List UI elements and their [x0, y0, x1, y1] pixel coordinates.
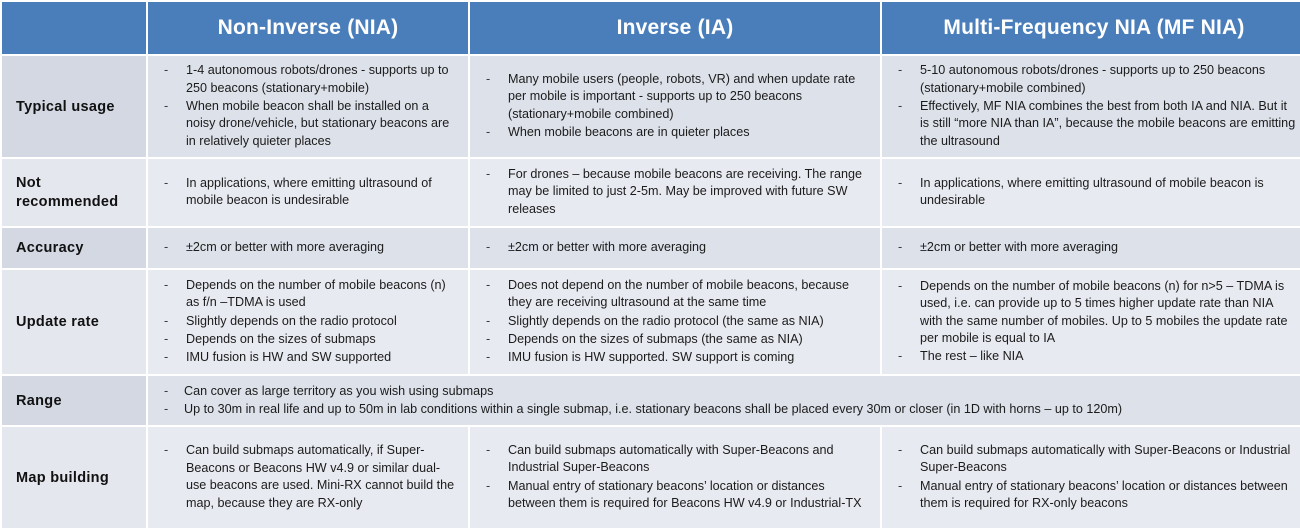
column-header-inverse: Inverse (IA)	[470, 2, 880, 54]
header-corner-cell	[2, 2, 146, 54]
table-row: Typical usage1-4 autonomous robots/drone…	[2, 56, 1300, 157]
bullet-item: 5-10 autonomous robots/drones - supports…	[890, 62, 1296, 97]
bullet-list: ±2cm or better with more averaging	[156, 239, 458, 256]
bullet-item: When mobile beacon shall be installed on…	[156, 98, 458, 150]
cell-accuracy-mfnia: ±2cm or better with more averaging	[882, 228, 1300, 268]
bullet-list: 5-10 autonomous robots/drones - supports…	[890, 62, 1296, 150]
cell-update-nia: Depends on the number of mobile beacons …	[148, 270, 468, 375]
bullet-item: Can build submaps automatically, if Supe…	[156, 442, 458, 512]
bullet-item: 1-4 autonomous robots/drones - supports …	[156, 62, 458, 97]
cell-map-mfnia: Can build submaps automatically with Sup…	[882, 427, 1300, 528]
bullet-item: Depends on the number of mobile beacons …	[890, 278, 1296, 348]
bullet-list: Can cover as large territory as you wish…	[156, 383, 1296, 419]
column-header-multi-frequency-nia: Multi-Frequency NIA (MF NIA)	[882, 2, 1300, 54]
bullet-list: In applications, where emitting ultrasou…	[156, 175, 458, 210]
bullet-item: Slightly depends on the radio protocol (…	[478, 313, 870, 330]
bullet-item: Can build submaps automatically with Sup…	[478, 442, 870, 477]
cell-accuracy-nia: ±2cm or better with more averaging	[148, 228, 468, 268]
row-label-text: Update rate	[16, 313, 140, 331]
bullet-item: Does not depend on the number of mobile …	[478, 277, 870, 312]
table-body: Typical usage1-4 autonomous robots/drone…	[2, 56, 1300, 528]
cell-update-mfnia: Depends on the number of mobile beacons …	[882, 270, 1300, 375]
bullet-item: Slightly depends on the radio protocol	[156, 313, 458, 330]
row-label-range: Range	[2, 376, 146, 425]
bullet-item: In applications, where emitting ultrasou…	[156, 175, 458, 210]
row-label-text: Not recommended	[16, 174, 140, 210]
bullet-list: Can build submaps automatically with Sup…	[478, 442, 870, 513]
cell-typical-ia: Many mobile users (people, robots, VR) a…	[470, 56, 880, 157]
row-label-text: Accuracy	[16, 239, 140, 257]
bullet-item: IMU fusion is HW and SW supported	[156, 349, 458, 366]
bullet-item: IMU fusion is HW supported. SW support i…	[478, 349, 870, 366]
row-label-map-building: Map building	[2, 427, 146, 528]
cell-map-nia: Can build submaps automatically, if Supe…	[148, 427, 468, 528]
bullet-item: ±2cm or better with more averaging	[890, 239, 1296, 256]
cell-notrec-mfnia: In applications, where emitting ultrasou…	[882, 159, 1300, 225]
bullet-item: Depends on the number of mobile beacons …	[156, 277, 458, 312]
bullet-list: ±2cm or better with more averaging	[890, 239, 1296, 256]
table-header: Non-Inverse (NIA) Inverse (IA) Multi-Fre…	[2, 2, 1300, 54]
bullet-list: Many mobile users (people, robots, VR) a…	[478, 71, 870, 142]
cell-notrec-ia: For drones – because mobile beacons are …	[470, 159, 880, 225]
row-label-text: Range	[16, 392, 140, 410]
cell-range-all: Can cover as large territory as you wish…	[148, 376, 1300, 425]
row-label-accuracy: Accuracy	[2, 228, 146, 268]
bullet-list: ±2cm or better with more averaging	[478, 239, 870, 256]
header-row: Non-Inverse (NIA) Inverse (IA) Multi-Fre…	[2, 2, 1300, 54]
bullet-list: In applications, where emitting ultrasou…	[890, 175, 1296, 210]
bullet-list: For drones – because mobile beacons are …	[478, 166, 870, 218]
row-label-text: Map building	[16, 469, 140, 487]
bullet-list: 1-4 autonomous robots/drones - supports …	[156, 62, 458, 150]
table-row: Accuracy±2cm or better with more averagi…	[2, 228, 1300, 268]
row-label-not-recommended: Not recommended	[2, 159, 146, 225]
bullet-item: Manual entry of stationary beacons’ loca…	[478, 478, 870, 513]
bullet-item: Manual entry of stationary beacons’ loca…	[890, 478, 1296, 513]
bullet-list: Can build submaps automatically with Sup…	[890, 442, 1296, 513]
comparison-table: Non-Inverse (NIA) Inverse (IA) Multi-Fre…	[0, 0, 1300, 530]
row-label-typical-usage: Typical usage	[2, 56, 146, 157]
bullet-list: Can build submaps automatically, if Supe…	[156, 442, 458, 512]
bullet-list: Depends on the number of mobile beacons …	[890, 278, 1296, 366]
row-label-update-rate: Update rate	[2, 270, 146, 375]
cell-update-ia: Does not depend on the number of mobile …	[470, 270, 880, 375]
bullet-item: ±2cm or better with more averaging	[478, 239, 870, 256]
bullet-item: For drones – because mobile beacons are …	[478, 166, 870, 218]
bullet-item: Depends on the sizes of submaps	[156, 331, 458, 348]
bullet-item: In applications, where emitting ultrasou…	[890, 175, 1296, 210]
cell-typical-mfnia: 5-10 autonomous robots/drones - supports…	[882, 56, 1300, 157]
table-row: Map buildingCan build submaps automatica…	[2, 427, 1300, 528]
bullet-list: Depends on the number of mobile beacons …	[156, 277, 458, 367]
bullet-item: The rest – like NIA	[890, 348, 1296, 365]
row-label-text: Typical usage	[16, 98, 140, 116]
bullet-item: Depends on the sizes of submaps (the sam…	[478, 331, 870, 348]
table-row: Not recommendedIn applications, where em…	[2, 159, 1300, 225]
table-row: Update rateDepends on the number of mobi…	[2, 270, 1300, 375]
cell-typical-nia: 1-4 autonomous robots/drones - supports …	[148, 56, 468, 157]
table-row: RangeCan cover as large territory as you…	[2, 376, 1300, 425]
bullet-item: Can cover as large territory as you wish…	[156, 383, 1296, 400]
bullet-item: Can build submaps automatically with Sup…	[890, 442, 1296, 477]
bullet-item: Many mobile users (people, robots, VR) a…	[478, 71, 870, 123]
cell-accuracy-ia: ±2cm or better with more averaging	[470, 228, 880, 268]
column-header-non-inverse: Non-Inverse (NIA)	[148, 2, 468, 54]
cell-notrec-nia: In applications, where emitting ultrasou…	[148, 159, 468, 225]
bullet-item: Up to 30m in real life and up to 50m in …	[156, 401, 1296, 418]
bullet-item: When mobile beacons are in quieter place…	[478, 124, 870, 141]
bullet-item: ±2cm or better with more averaging	[156, 239, 458, 256]
bullet-item: Effectively, MF NIA combines the best fr…	[890, 98, 1296, 150]
bullet-list: Does not depend on the number of mobile …	[478, 277, 870, 367]
cell-map-ia: Can build submaps automatically with Sup…	[470, 427, 880, 528]
